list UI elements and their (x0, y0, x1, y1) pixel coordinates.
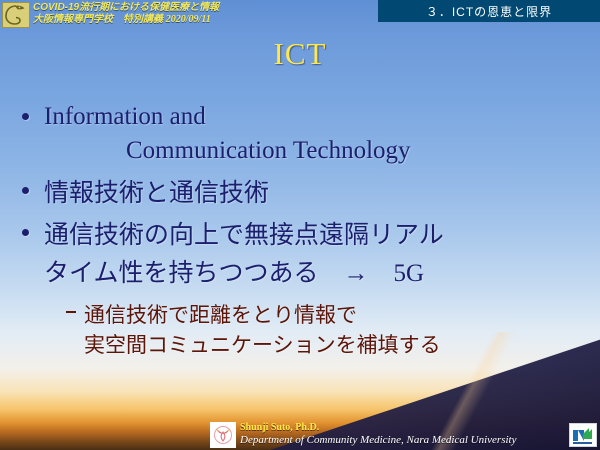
footer-text-block: Shunji Suto, Ph.D. Department of Communi… (236, 422, 516, 448)
sub-bullet-1-continuation: 実空間コミュニケーションを補填する (0, 330, 600, 360)
bullet-item-2: 情報技術と通信技術 (0, 174, 600, 212)
bullet-1-text: Information and (44, 103, 206, 130)
bullet-dot-icon (22, 229, 29, 236)
institution-crest-icon (2, 2, 30, 28)
bullet-2-text: 情報技術と通信技術 (44, 178, 269, 207)
section-banner: ３．ICTの恩恵と限界 (378, 0, 600, 22)
footer: Shunji Suto, Ph.D. Department of Communi… (210, 422, 516, 448)
bullet-dot-icon (22, 113, 29, 120)
nara-medical-seal-icon (210, 422, 236, 448)
bullet-3-text: 通信技術の向上で無接点遠隔リアル (44, 220, 444, 249)
bullet-1-continuation: Communication Technology (0, 134, 600, 168)
author-department: Department of Community Medicine, Nara M… (240, 434, 516, 446)
bullet-item-3: 通信技術の向上で無接点遠隔リアル (0, 216, 600, 254)
bullet-3-continuation-ascii: → 5G (344, 260, 425, 287)
sub-bullet-item-1: 通信技術で距離をとり情報で (0, 300, 600, 330)
author-name: Shunji Suto, Ph.D. (240, 422, 516, 434)
header-line-1: COVID-19流行期における保健医療と情報 (33, 2, 219, 14)
bullet-item-1: Information and (0, 100, 600, 134)
header-subtitle-block: COVID-19流行期における保健医療と情報 大阪情報専門学校 特別講義 202… (33, 2, 219, 26)
bullet-3-continuation-jp: タイム性を持ちつつある (44, 258, 344, 287)
page-title: ICT (0, 36, 600, 72)
header-date: 2020/09/11 (166, 14, 211, 25)
sub-bullet-1-text: 通信技術で距離をとり情報で (84, 303, 357, 327)
sub-bullet-dash-icon (66, 311, 76, 313)
slide-body: Information and Communication Technology… (0, 100, 600, 360)
slide-canvas: COVID-19流行期における保健医療と情報 大阪情報専門学校 特別講義 202… (0, 0, 600, 450)
nara-medical-university-logo-icon (569, 423, 597, 447)
header-line-2: 大阪情報専門学校 特別講義 2020/09/11 (33, 14, 219, 26)
bullet-dot-icon (22, 187, 29, 194)
header-school: 大阪情報専門学校 特別講義 (33, 14, 163, 25)
bullet-3-continuation: タイム性を持ちつつある → 5G (0, 254, 600, 293)
